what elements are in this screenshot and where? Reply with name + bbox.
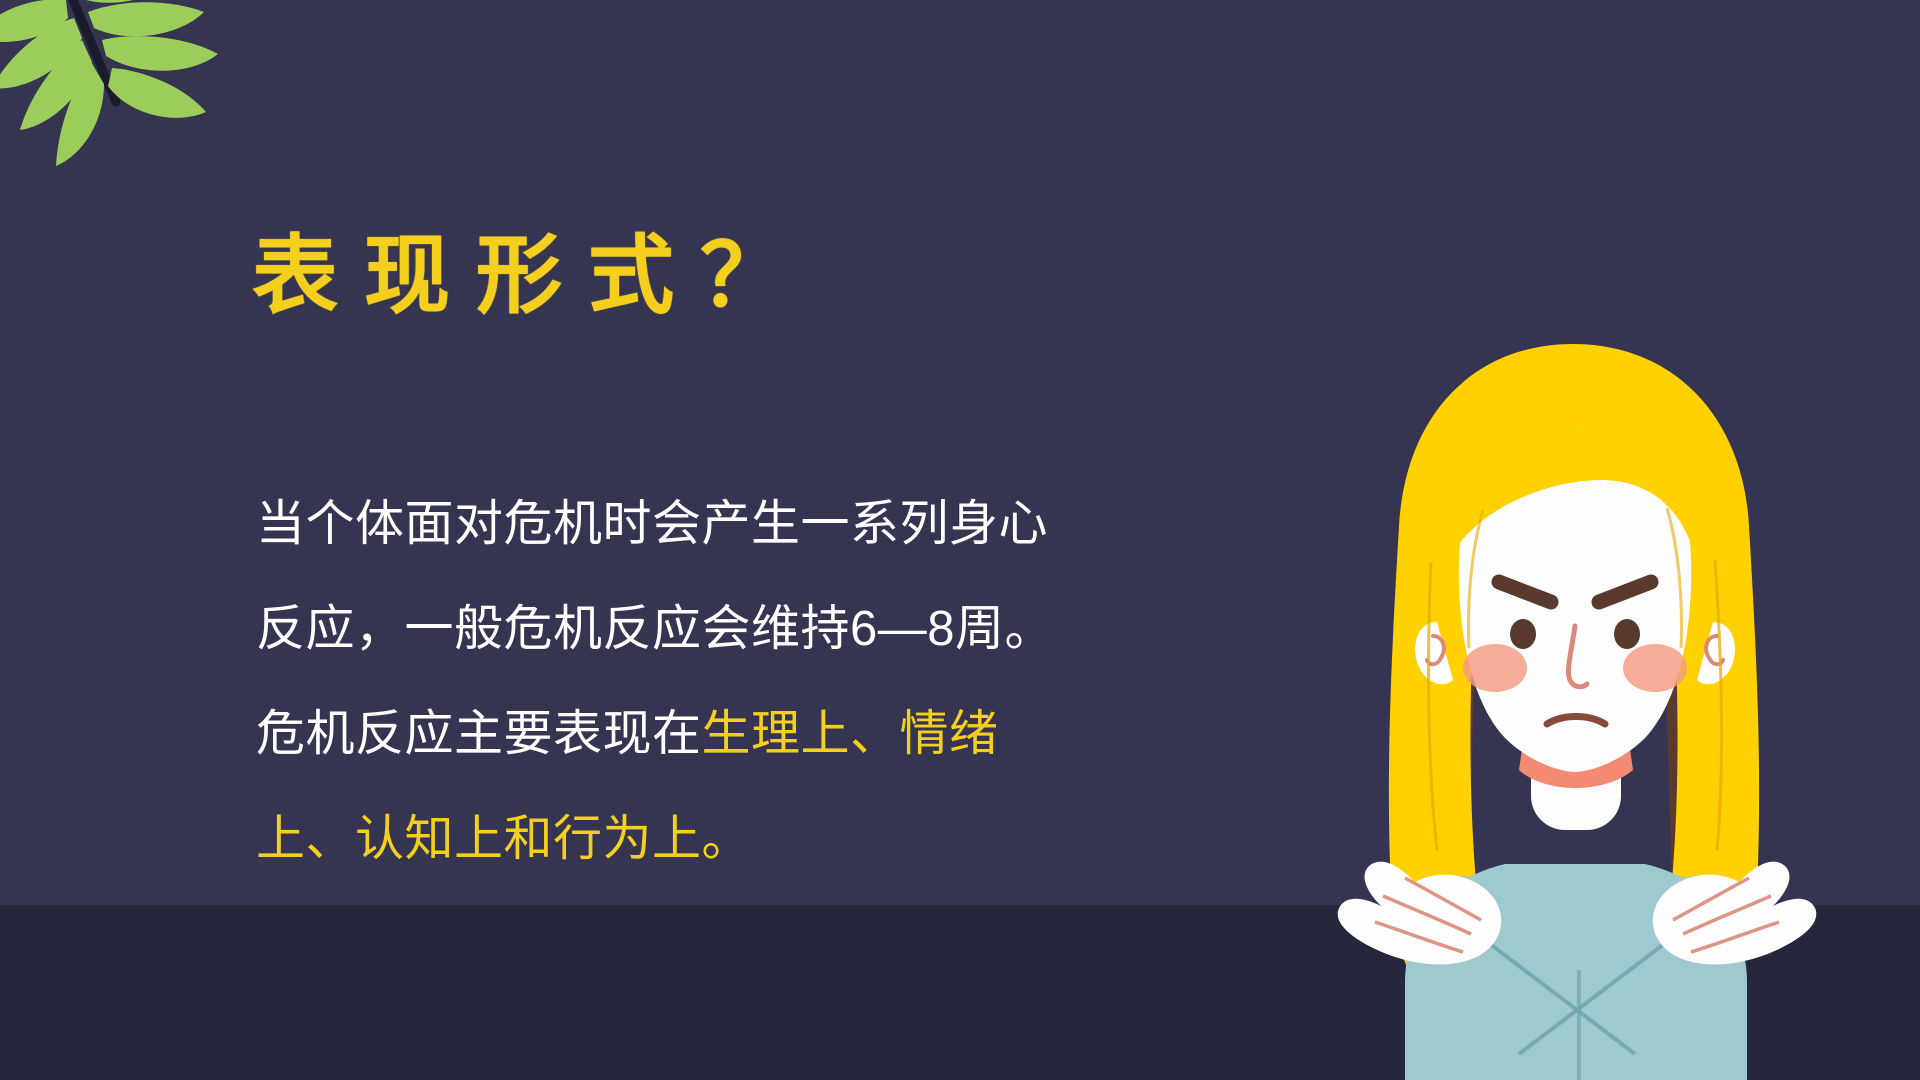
slide-body-text: 当个体面对危机时会产生一系列身心反应，一般危机反应会维持6—8周。危机反应主要表… — [256, 472, 1086, 892]
slide-bottom-band — [0, 905, 1920, 1080]
slide-title: 表现形式？ — [252, 226, 812, 327]
slide-canvas: 表现形式？ 当个体面对危机时会产生一系列身心反应，一般危机反应会维持6—8周。危… — [0, 0, 1920, 1080]
